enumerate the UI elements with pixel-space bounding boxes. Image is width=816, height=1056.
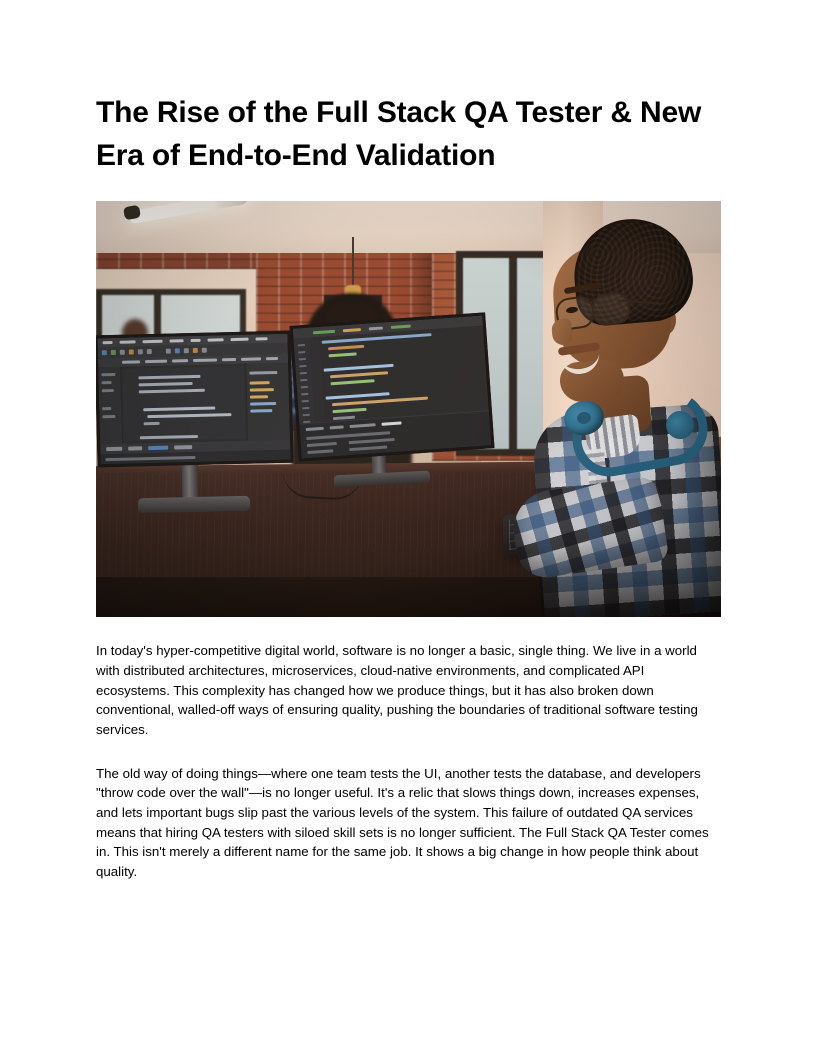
monitor-left-stand-base — [138, 496, 250, 513]
pendant-lamp-cord — [352, 237, 354, 289]
hero-image — [96, 201, 721, 617]
page-title: The Rise of the Full Stack QA Tester & N… — [96, 92, 716, 177]
editor-code-area — [321, 328, 482, 421]
hero-photo-canvas — [96, 201, 721, 617]
monitor-left — [96, 331, 294, 468]
developer-nose — [551, 318, 574, 346]
ide-outline-panel — [245, 363, 290, 441]
body-copy: In today's hyper-competitive digital wor… — [96, 641, 721, 881]
developer-portrait — [468, 201, 721, 617]
monitor-right — [289, 313, 494, 462]
ide-project-explorer — [98, 367, 123, 445]
document-page: The Rise of the Full Stack QA Tester & N… — [0, 0, 816, 1056]
page-title-line-1: The Rise of the Full Stack QA Tester — [96, 96, 602, 129]
monitor-right-screen — [293, 316, 492, 459]
monitor-left-screen — [97, 334, 290, 465]
paragraph-1: In today's hyper-competitive digital wor… — [96, 641, 718, 739]
document-content: The Rise of the Full Stack QA Tester & N… — [96, 92, 721, 882]
paragraph-2: The old way of doing things—where one te… — [96, 764, 718, 882]
ide-code-editor — [122, 366, 246, 442]
